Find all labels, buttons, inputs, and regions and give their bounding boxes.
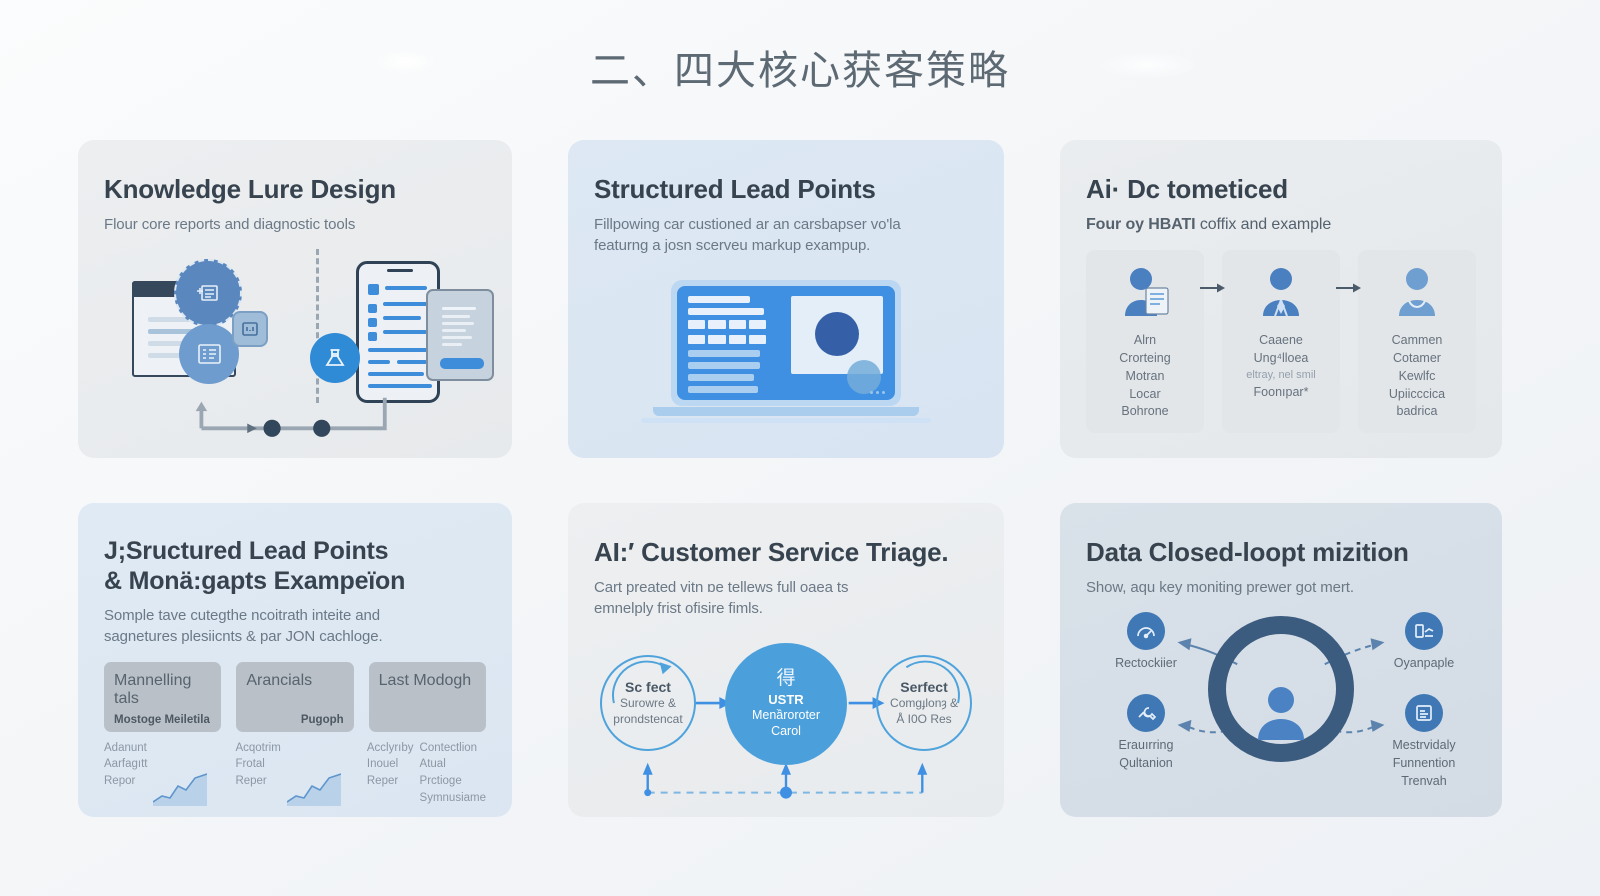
node-tools[interactable]: Erauırring Qultanion [1094,694,1198,772]
example-tile-row: Mannelling tals Mostoge Meiletila Aranci… [104,662,486,732]
card-subtitle-line2: featurng a josn scerveu markup exampup. [594,235,978,256]
sparkline-chart-icon [287,772,341,806]
persona-customer[interactable]: Cammen Cotamer Kewlfc Upiicccica badrica [1358,250,1476,433]
arrow-right-icon [1200,282,1226,294]
node-label: Mestrvidaly Funnention Trenvah [1372,736,1476,790]
card-subtitle: Show, aqu key moniting prewer got mert. [1086,577,1476,598]
card-subtitle-line2: sagnetures plesiicnts & par JON cachloge… [104,626,486,647]
example-legend-row: Adanunt Aarfagıtt Repor Acqotrim Frotal … [104,740,486,807]
card-title: Data Closed-loopt mizition [1086,537,1476,568]
card-title: Structured Lead Points [594,174,978,205]
persona-line: Caaene [1228,332,1334,350]
page-title: 二、四大核心获客策略 [0,38,1600,96]
card-data-closed-loop-optimization[interactable]: Data Closed-loopt mizition Show, aqu key… [1060,503,1502,817]
persona-label: Cammen Cotamer Kewlfc Upiicccica badrica [1364,332,1470,421]
node-title: Sc fect [625,679,671,695]
card-knowledge-lure-design[interactable]: Knowledge Lure Design Flour core reports… [78,140,512,458]
card-title: Ai· Dc tometiced [1086,174,1476,205]
tile-title: Last Modogh [379,672,476,690]
tile-subtitle: Mostoge Meiletila [114,714,210,726]
card-structured-lead-points-examples[interactable]: J;Sructured Lead Points & Monä:gapts Exa… [78,503,512,817]
flow-connector [104,391,486,437]
node-label: Erauırring Qultanion [1094,736,1198,772]
legend-line: Inouel [367,756,414,773]
node-label: Oyanpaple [1372,654,1476,672]
legend-line: Contectlion [420,740,486,757]
tile-title: Mannelling tals [114,672,211,708]
legend-item: Acclyrıby Inouel Reper Contectlion Atual… [367,740,486,807]
example-tile[interactable]: Last Modogh [369,662,486,732]
tile-title: Arancials [246,672,343,690]
persona-line: Kewlfc [1364,368,1470,386]
legend-item: Acqotrim Frotal Reper [235,740,351,807]
gear-icon [232,311,268,347]
triage-node-right[interactable]: Serfect Comgɟlonȝ & Å I0O Res [876,655,972,751]
node-recontrol[interactable]: Rectockiier [1094,612,1198,672]
legend-line: Symnusiame [420,790,486,807]
tile-subtitle: Pugoph [301,714,344,726]
wrench-icon [1127,694,1165,732]
card-title: Knowledge Lure Design [104,174,486,205]
report-icon [1405,694,1443,732]
persona-line: Locar [1092,386,1198,404]
knowledge-lure-illustration [104,241,486,421]
card-subtitle: Fillpowing car custioned ar an carsbapse… [594,214,978,257]
persona-label: Alrn Crorteing Motran Locar Bohrone [1092,332,1198,421]
center-glyph: 得 [776,669,795,688]
persona-line: badrica [1364,403,1470,421]
node-dashboard[interactable]: Oyanpaple [1372,612,1476,672]
card-title-line2: & Monä:gapts Exampeïon [104,567,486,597]
example-tile[interactable]: Mannelling tals Mostoge Meiletila [104,662,221,732]
node-label-line3: Trenvah [1401,774,1446,788]
node-label-line1: Erauırring [1119,738,1174,752]
legend-line: Frotal [235,756,280,773]
card-subtitle: Cart preated vitn ɒe tellews full oaea t… [594,577,978,620]
legend-line: Acclyrıby [367,740,414,757]
node-label-line2: Funnention [1393,756,1456,770]
persona-line: Cammen [1364,332,1470,350]
persona-line: Bohrone [1092,403,1198,421]
legend-line: Acqotrim [235,740,280,757]
person-customer-icon [1385,264,1449,322]
card-ai-dc-tometiced[interactable]: Ai· Dc tometiced Four oy HBATI coffix an… [1060,140,1502,458]
persona-analyst[interactable]: Alrn Crorteing Motran Locar Bohrone [1086,250,1204,433]
persona-label: Caaene Ung⁴lloea eltray, nel smil Foonıp… [1228,332,1334,401]
loop-ring [1208,616,1354,762]
card-title: AI:′ Customer Service Triage. [594,537,978,568]
persona-agent[interactable]: Caaene Ung⁴lloea eltray, nel smil Foonıp… [1222,250,1340,433]
card-ai-customer-service-triage[interactable]: AI:′ Customer Service Triage. Cart preat… [568,503,1004,817]
legend-line: Aarfagıtt [104,756,147,773]
persona-line: Upiicccica [1364,386,1470,404]
triage-flow-diagram: Sc fect Surowre & prondstencat 得 USTR Me… [594,633,978,803]
legend-line: Repor [104,773,147,790]
strategy-card-grid: Knowledge Lure Design Flour core reports… [78,140,1522,817]
persona-line-faint: eltray, nel smil [1228,368,1334,384]
persona-line: Foonıpar* [1228,384,1334,402]
card-subtitle-line1: Cart preated vitn ɒe tellews full oaea t… [594,577,978,598]
checklist-badge-icon [179,324,239,384]
section-divider [316,249,319,403]
legend-line: Adanunt [104,740,147,757]
node-label-line1: Mestrvidaly [1392,738,1455,752]
card-subtitle: Four oy HBATI coffix and example [1086,214,1476,237]
lab-flask-icon [310,333,360,383]
person-center-icon [1246,682,1316,744]
legend-line: Reper [367,773,414,790]
node-report[interactable]: Mestrvidaly Funnention Trenvah [1372,694,1476,790]
card-title: J;Sructured Lead Points & Monä:gapts Exa… [104,537,486,596]
card-subtitle-rest: coffix and example [1196,216,1332,233]
card-title-line1: J;Sructured Lead Points [104,537,486,567]
card-subtitle: Flour core reports and diagnostic tools [104,214,486,235]
node-label-line2: Qultanion [1119,756,1173,770]
card-subtitle-line2: emnelply frist ofisire fimls. [594,598,978,619]
triage-node-left[interactable]: Sc fect Surowre & prondstencat [600,655,696,751]
persona-line: Alrn [1092,332,1198,350]
legend-line: Reper [235,773,280,790]
node-title: Serfect [900,679,947,695]
card-subtitle: Somple tave cutegthe ncoitrath inteite a… [104,605,486,648]
example-tile[interactable]: Arancials Pugoph [236,662,353,732]
node-body-line1: Menầroroter [752,707,820,723]
legend-line: Atual Prctioge [420,756,486,789]
card-subtitle-line1: Fillpowing car custioned ar an carsbapse… [594,214,978,235]
node-title: USTR [768,692,803,707]
sparkline-chart-icon [153,772,207,806]
persona-line: Cotamer [1364,350,1470,368]
card-subtitle-strong: Four oy HBATI [1086,216,1196,233]
node-body-line1: Comgɟlonȝ & [890,696,958,712]
arrow-right-icon [1336,282,1362,294]
legend-item: Adanunt Aarfagıtt Repor [104,740,220,807]
persona-line: Motran [1092,368,1198,386]
node-label: Rectockiier [1094,654,1198,672]
chart-icon [1405,612,1443,650]
node-body-line2: prondstencat [613,712,682,728]
persona-row: Alrn Crorteing Motran Locar Bohrone [1086,250,1476,433]
node-body-line2: Carol [771,723,801,739]
card-structured-lead-points[interactable]: Structured Lead Points Fillpowing car cu… [568,140,1004,458]
card-subtitle-line1: Somple tave cutegthe ncoitrath inteite a… [104,605,486,626]
person-suit-icon [1249,264,1313,322]
tablet-mockup-icon [426,289,494,381]
closed-loop-diagram: Rectockiier Oyanpaple [1086,608,1476,788]
person-with-document-icon [1113,264,1177,322]
laptop-illustration [594,272,978,440]
triage-node-center[interactable]: 得 USTR Menầroroter Carol [725,643,847,765]
node-body-line2: Å I0O Res [896,712,951,728]
gauge-icon [1127,612,1165,650]
node-body-line1: Surowre & [620,696,676,712]
laptop-mockup-icon [671,280,901,423]
persona-line: Ung⁴lloea [1228,350,1334,368]
persona-line: Crorteing [1092,350,1198,368]
